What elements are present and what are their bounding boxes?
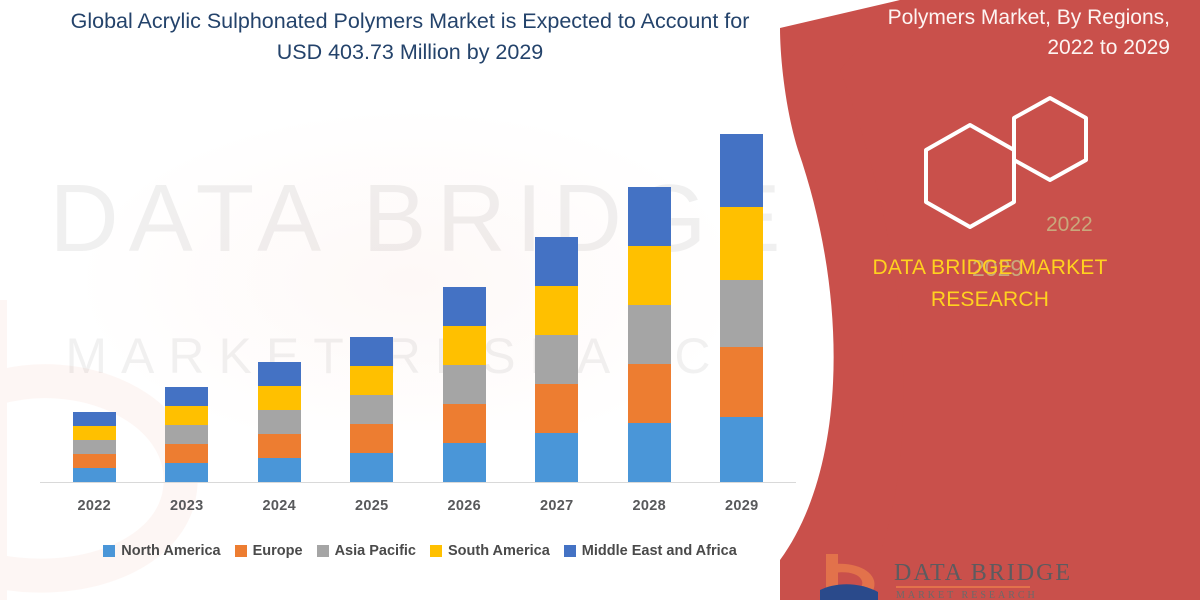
- brand-panel-content: Polymers Market, By Regions, 2022 to 202…: [780, 0, 1200, 600]
- bar-segment[interactable]: [628, 423, 671, 482]
- bar-segment[interactable]: [443, 287, 486, 326]
- bar-segment[interactable]: [165, 387, 208, 406]
- bar-segment[interactable]: [535, 286, 578, 335]
- legend-item[interactable]: Asia Pacific: [317, 543, 416, 559]
- bar-segment[interactable]: [443, 326, 486, 365]
- brand-line-2: RESEARCH: [820, 284, 1160, 316]
- bar-segment[interactable]: [350, 424, 393, 453]
- hexagon-icons: [900, 90, 1130, 235]
- hexagon-group: 2022 2029: [900, 90, 1130, 235]
- bar-segment[interactable]: [165, 444, 208, 463]
- bar-segment[interactable]: [443, 443, 486, 482]
- stacked-bar[interactable]: [350, 337, 393, 482]
- bar-segment[interactable]: [258, 410, 301, 434]
- legend-item[interactable]: South America: [430, 543, 550, 559]
- x-axis-tick-labels: 20222023202420252026202720282029: [48, 492, 788, 520]
- bar-segment[interactable]: [73, 468, 116, 482]
- x-axis-line: [40, 482, 796, 483]
- bar-segment[interactable]: [720, 207, 763, 280]
- hexagon-2029-icon: [926, 125, 1014, 227]
- bar-segment[interactable]: [350, 366, 393, 395]
- bar-segment[interactable]: [720, 347, 763, 417]
- x-axis-tick-label: 2028: [604, 498, 694, 514]
- footer-logo: DATA BRIDGE MARKET RESEARCH: [820, 552, 1200, 600]
- bar-segment[interactable]: [350, 395, 393, 424]
- stacked-bar[interactable]: [443, 287, 486, 482]
- plot-area: [48, 110, 788, 482]
- bar-segment[interactable]: [165, 463, 208, 482]
- footer-logo-text: DATA BRIDGE: [894, 560, 1072, 587]
- brand-name: DATA BRIDGE MARKET RESEARCH: [820, 252, 1160, 315]
- bar-segment[interactable]: [720, 417, 763, 482]
- legend-item-label: Asia Pacific: [335, 543, 416, 559]
- brand-line-1: DATA BRIDGE MARKET: [820, 252, 1160, 284]
- chart-legend: North AmericaEuropeAsia PacificSouth Ame…: [40, 538, 800, 564]
- x-axis-tick-label: 2022: [49, 498, 139, 514]
- legend-item[interactable]: Middle East and Africa: [564, 543, 737, 559]
- bar-column: [419, 110, 509, 482]
- stacked-bar[interactable]: [73, 412, 116, 482]
- bar-column: [234, 110, 324, 482]
- bar-segment[interactable]: [73, 440, 116, 454]
- bar-segment[interactable]: [73, 454, 116, 468]
- legend-item-label: North America: [121, 543, 220, 559]
- legend-swatch-icon: [235, 545, 247, 557]
- data-bridge-logo-icon: [820, 552, 884, 600]
- hexagon-2022-icon: [1014, 98, 1086, 180]
- bar-segment[interactable]: [443, 365, 486, 404]
- stacked-bar[interactable]: [535, 237, 578, 482]
- bar-segment[interactable]: [628, 364, 671, 423]
- bar-segment[interactable]: [258, 434, 301, 458]
- bar-column: [142, 110, 232, 482]
- chart-panel: DATA BRIDGE MARKET RESEARCH Global Acryl…: [0, 0, 840, 600]
- bar-segment[interactable]: [258, 362, 301, 386]
- legend-swatch-icon: [564, 545, 576, 557]
- bar-segment[interactable]: [720, 280, 763, 347]
- bar-segment[interactable]: [535, 384, 578, 433]
- stacked-bar[interactable]: [720, 134, 763, 482]
- legend-item-label: South America: [448, 543, 550, 559]
- bar-segment[interactable]: [165, 406, 208, 425]
- bar-segment[interactable]: [258, 386, 301, 410]
- legend-item-label: Middle East and Africa: [582, 543, 737, 559]
- legend-item[interactable]: Europe: [235, 543, 303, 559]
- x-axis-tick-label: 2024: [234, 498, 324, 514]
- bar-segment[interactable]: [73, 426, 116, 440]
- bar-column: [49, 110, 139, 482]
- legend-swatch-icon: [317, 545, 329, 557]
- hexagon-2022-label: 2022: [1046, 213, 1093, 237]
- bar-segment[interactable]: [535, 335, 578, 384]
- bar-segment[interactable]: [628, 305, 671, 364]
- footer-logo-subtext: MARKET RESEARCH: [896, 590, 1038, 600]
- bar-segment[interactable]: [258, 458, 301, 482]
- bar-segment[interactable]: [628, 246, 671, 305]
- legend-item[interactable]: North America: [103, 543, 220, 559]
- bar-segment[interactable]: [165, 425, 208, 444]
- bar-column: [697, 110, 787, 482]
- x-axis-tick-label: 2023: [142, 498, 232, 514]
- bar-segment[interactable]: [443, 404, 486, 443]
- page-title: Global Acrylic Sulphonated Polymers Mark…: [60, 6, 760, 68]
- stacked-bar[interactable]: [165, 387, 208, 482]
- bar-column: [512, 110, 602, 482]
- bar-segment[interactable]: [350, 337, 393, 366]
- bar-segment[interactable]: [628, 187, 671, 246]
- bar-column: [604, 110, 694, 482]
- x-axis-tick-label: 2029: [697, 498, 787, 514]
- x-axis-tick-label: 2025: [327, 498, 417, 514]
- bar-segment[interactable]: [720, 134, 763, 207]
- stacked-bar[interactable]: [258, 362, 301, 482]
- panel-title: Polymers Market, By Regions, 2022 to 202…: [840, 3, 1170, 64]
- bar-series-container: [48, 110, 788, 482]
- stacked-bar[interactable]: [628, 187, 671, 482]
- bar-segment[interactable]: [535, 237, 578, 286]
- legend-item-label: Europe: [253, 543, 303, 559]
- bar-segment[interactable]: [535, 433, 578, 482]
- legend-swatch-icon: [430, 545, 442, 557]
- bar-segment[interactable]: [350, 453, 393, 482]
- bar-column: [327, 110, 417, 482]
- brand-panel: Polymers Market, By Regions, 2022 to 202…: [780, 0, 1200, 600]
- legend-swatch-icon: [103, 545, 115, 557]
- x-axis-tick-label: 2027: [512, 498, 602, 514]
- x-axis-tick-label: 2026: [419, 498, 509, 514]
- bar-segment[interactable]: [73, 412, 116, 426]
